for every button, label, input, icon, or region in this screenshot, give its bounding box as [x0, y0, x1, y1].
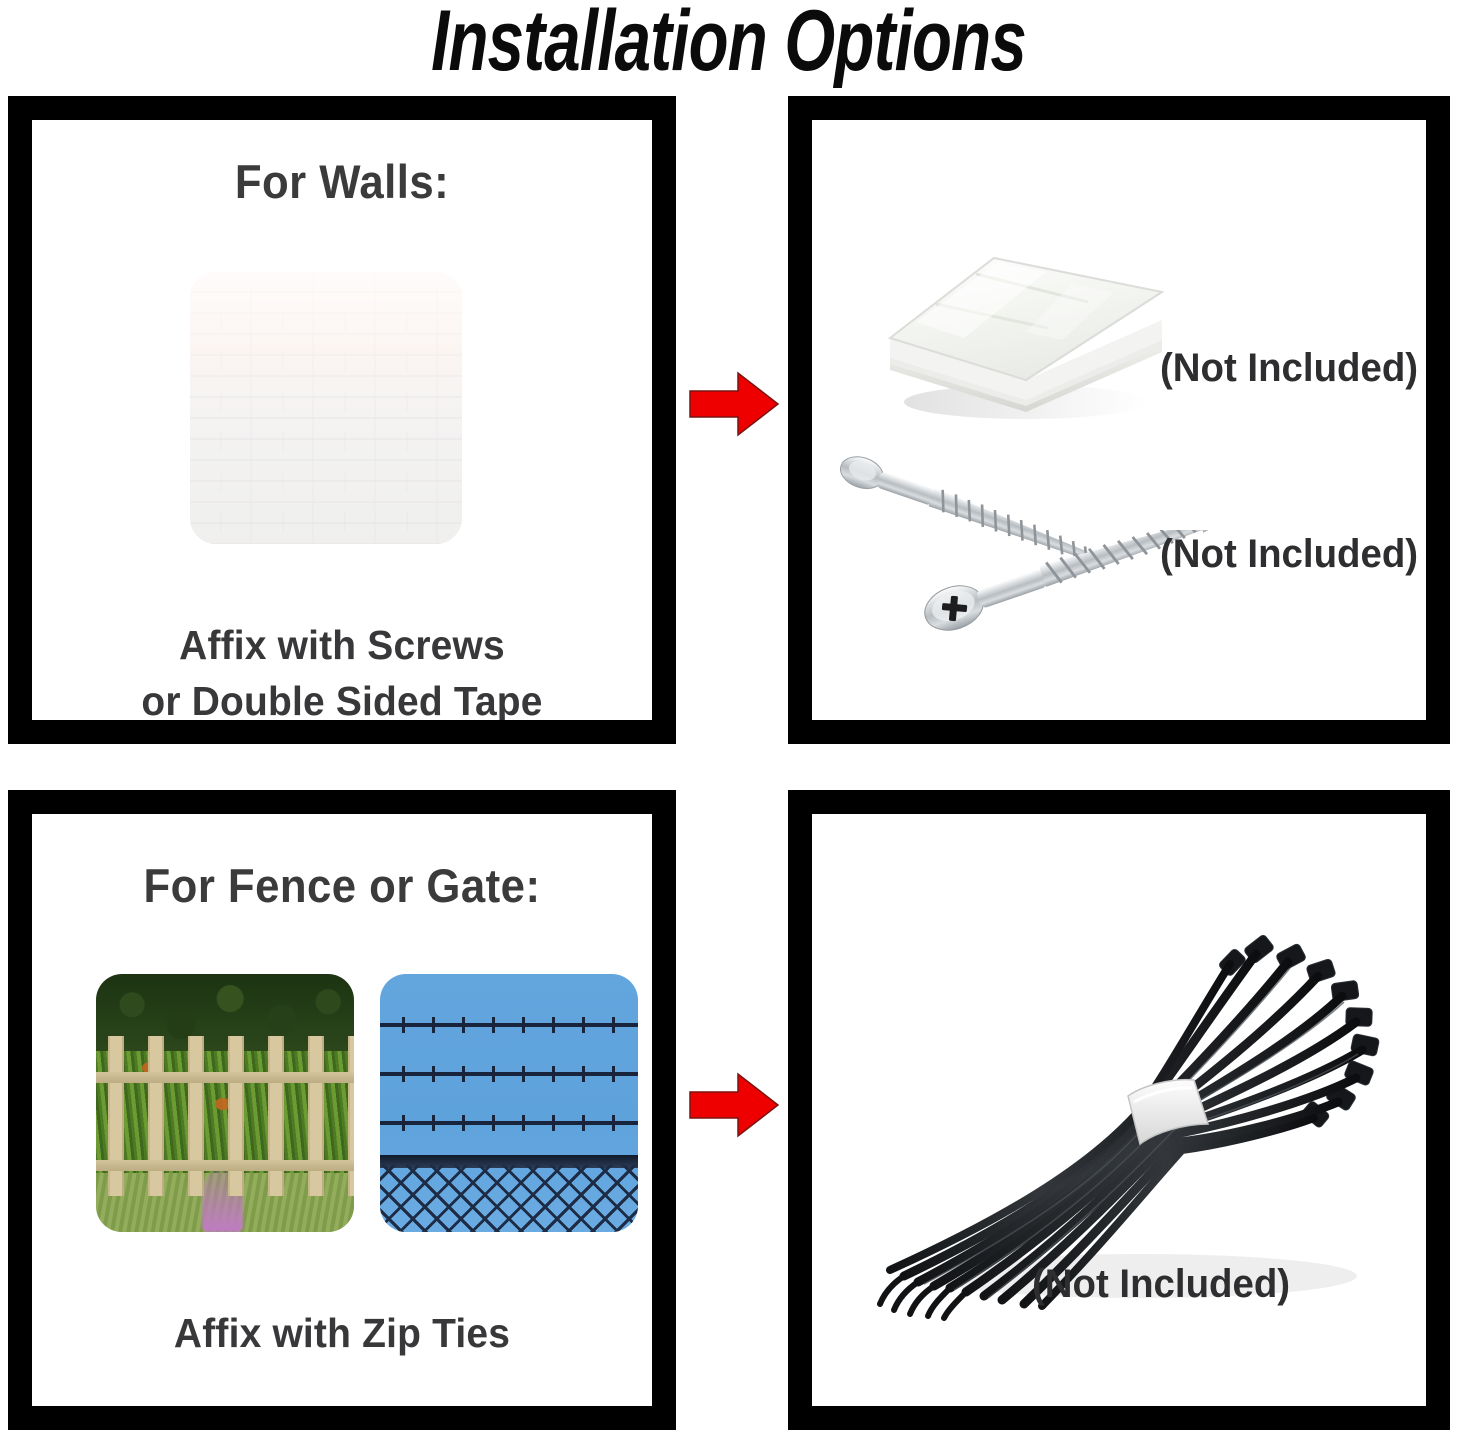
chain-link-barbed-wire-fence-photo [380, 974, 638, 1232]
panel-for-walls: For Walls: Affix with Screws or Double S… [8, 96, 676, 744]
page-title: Installation Options [175, 0, 1282, 86]
barbed-wire-strand [380, 1072, 638, 1076]
screws-not-included-label: (Not Included) [1160, 532, 1418, 577]
chain-link-mesh [380, 1165, 638, 1232]
fence-rail-bottom [96, 1160, 354, 1171]
arrow-right-icon [686, 367, 782, 441]
fence-rail-top [96, 1072, 354, 1083]
panel-wall-hardware: (Not Included) [788, 96, 1450, 744]
panel-fence-hardware-inner: (Not Included) [812, 814, 1426, 1406]
barbed-wire-strand [380, 1023, 638, 1027]
panel-for-walls-caption: Affix with Screws or Double Sided Tape [48, 618, 637, 720]
fence-pickets [96, 1036, 354, 1196]
wooden-picket-fence-photo [96, 974, 354, 1232]
installation-options-infographic: Installation Options For Walls: Affix wi… [0, 0, 1457, 1434]
panel-for-fence-caption: Affix with Zip Ties [48, 1306, 637, 1362]
panel-wall-hardware-inner: (Not Included) [812, 120, 1426, 720]
barbed-wire-strand [380, 1121, 638, 1125]
white-paint-overlay [190, 272, 462, 544]
double-sided-tape-stack [876, 242, 1172, 424]
caption-line-1: Affix with Screws [48, 618, 637, 674]
caption-line-2: or Double Sided Tape [48, 674, 637, 720]
panel-for-walls-heading: For Walls: [54, 154, 631, 209]
panel-fence-hardware: (Not Included) [788, 790, 1450, 1430]
arrow-right-icon [686, 1068, 782, 1142]
tape-not-included-label: (Not Included) [1160, 346, 1418, 391]
painted-white-brick-wall-photo [190, 272, 462, 544]
zip-ties-not-included-label: (Not Included) [1032, 1262, 1290, 1307]
panel-for-fence-heading: For Fence or Gate: [54, 858, 631, 913]
panel-for-fence-or-gate-inner: For Fence or Gate: [32, 814, 652, 1406]
panel-for-fence-or-gate: For Fence or Gate: [8, 790, 676, 1430]
panel-for-walls-inner: For Walls: Affix with Screws or Double S… [32, 120, 652, 720]
